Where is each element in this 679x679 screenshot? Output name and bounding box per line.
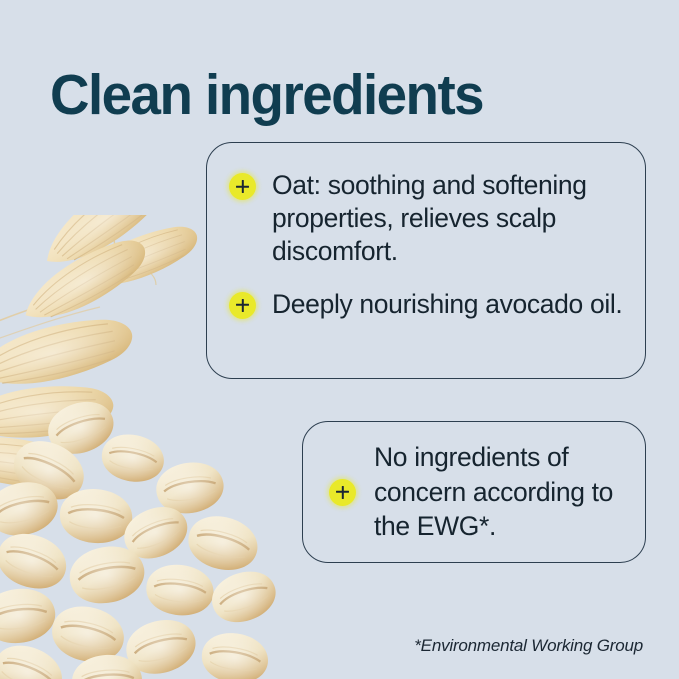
- plus-icon: [229, 292, 256, 319]
- list-item: Oat: soothing and softening properties, …: [229, 169, 623, 268]
- page-title: Clean ingredients: [50, 65, 483, 127]
- ingredients-card: Oat: soothing and softening properties, …: [206, 142, 646, 379]
- list-item: Deeply nourishing avocado oil.: [229, 288, 623, 321]
- poster-canvas: Clean ingredients Oat: soothing and soft…: [0, 0, 679, 679]
- footnote: *Environmental Working Group: [414, 636, 643, 656]
- list-item-label: No ingredients of concern according to t…: [374, 440, 625, 543]
- list-item-label: Oat: soothing and softening properties, …: [272, 169, 623, 268]
- list-item-label: Deeply nourishing avocado oil.: [272, 288, 622, 321]
- plus-icon: [329, 479, 356, 506]
- plus-icon: [229, 173, 256, 200]
- ewg-card: No ingredients of concern according to t…: [302, 421, 646, 563]
- list-item: No ingredients of concern according to t…: [323, 440, 625, 543]
